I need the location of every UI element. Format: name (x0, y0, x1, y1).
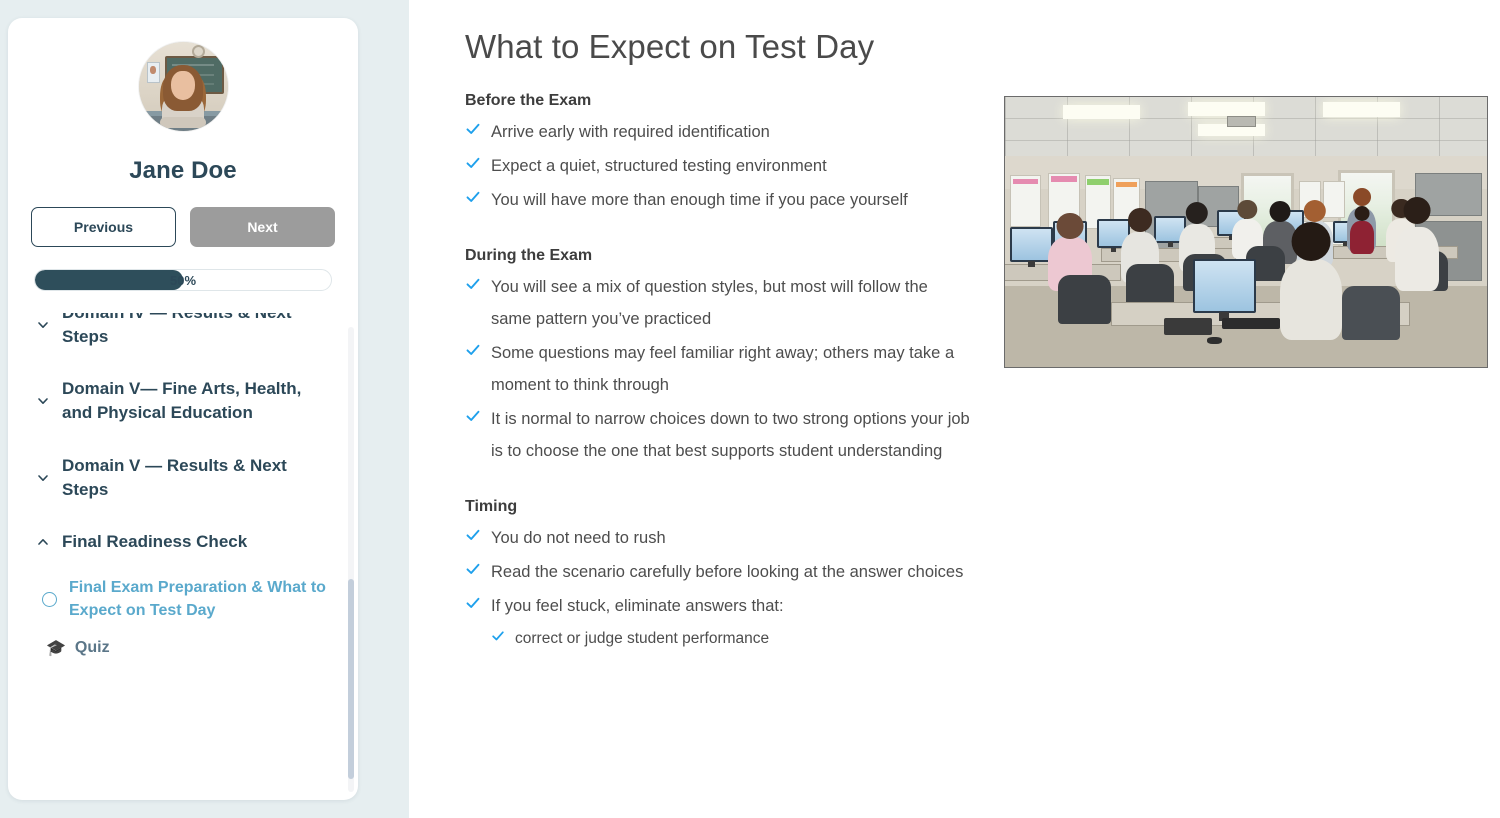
bullet-list: You will see a mix of question styles, b… (465, 271, 970, 468)
sidebar-item-final-readiness-check[interactable]: Final Readiness Check (34, 516, 338, 568)
sidebar-sublist: Final Exam Preparation & What to Expect … (34, 568, 338, 670)
sidebar-item-domain-v-fine-arts[interactable]: Domain V— Fine Arts, Health, and Physica… (34, 363, 338, 439)
nav-buttons: Previous Next (8, 207, 358, 247)
check-icon (465, 121, 481, 137)
sidebar-item-label: Domain V — Results & Next Steps (62, 454, 336, 502)
computer-lab-photo (1004, 96, 1488, 368)
list-item-text: You will see a mix of question styles, b… (491, 271, 970, 335)
sidebar-item-label: Domain V— Fine Arts, Health, and Physica… (62, 377, 336, 425)
section-heading: During the Exam (465, 247, 970, 265)
course-player-page: Jane Doe Previous Next 50% Domain (0, 0, 1500, 818)
content-row: Before the Exam Arrive early with requir… (465, 92, 1452, 684)
avatar-wrapper (8, 42, 358, 131)
list-item: correct or judge student performance (491, 624, 970, 654)
check-icon (465, 527, 481, 543)
section-heading: Before the Exam (465, 92, 970, 110)
check-icon (465, 408, 481, 424)
sidebar-scrollbar-track[interactable] (348, 327, 354, 792)
check-icon (465, 342, 481, 358)
list-item: Read the scenario carefully before looki… (465, 556, 970, 588)
list-item-text: Read the scenario carefully before looki… (491, 556, 963, 588)
sub-bullet-list: correct or judge student performance (491, 624, 970, 654)
user-name: Jane Doe (8, 157, 358, 185)
list-item: You do not need to rush (465, 522, 970, 554)
list-item: You will see a mix of question styles, b… (465, 271, 970, 335)
check-icon (465, 561, 481, 577)
progress-wrapper: 50% (34, 269, 332, 291)
list-item: Some questions may feel familiar right a… (465, 337, 970, 401)
sidebar-item-domain-iv-results[interactable]: Domain IV — Results & Next Steps (34, 313, 338, 363)
section-heading: Timing (465, 498, 970, 516)
main-content: What to Expect on Test Day Before the Ex… (409, 0, 1500, 818)
sidebar-item-label: Domain IV — Results & Next Steps (62, 313, 336, 349)
list-item-text: Some questions may feel familiar right a… (491, 337, 970, 401)
list-item: If you feel stuck, eliminate answers tha… (465, 590, 970, 622)
check-icon (465, 595, 481, 611)
list-item-text: You do not need to rush (491, 522, 666, 554)
list-item-text: If you feel stuck, eliminate answers tha… (491, 590, 784, 622)
check-icon (465, 189, 481, 205)
lesson-image-column (1004, 92, 1488, 684)
sidebar-panel: Jane Doe Previous Next 50% Domain (0, 0, 409, 818)
circle-outline-icon (42, 592, 57, 607)
sidebar-lesson-label: Final Exam Preparation & What to Expect … (69, 576, 336, 622)
check-icon (465, 155, 481, 171)
progress-label: 50% (35, 270, 331, 290)
page-title: What to Expect on Test Day (465, 28, 1452, 66)
course-nav-scroll[interactable]: Domain IV — Results & Next Steps Domain … (8, 313, 358, 800)
quiz-label: Quiz (75, 639, 110, 657)
chevron-down-icon (36, 394, 50, 408)
list-item-text: You will have more than enough time if y… (491, 184, 908, 216)
bullet-list: You do not need to rush Read the scenari… (465, 522, 970, 623)
sidebar-item-quiz[interactable]: 🎓 Quiz (42, 628, 336, 668)
sidebar-lesson-final-exam-preparation[interactable]: Final Exam Preparation & What to Expect … (42, 570, 336, 628)
graduation-cap-icon: 🎓 (46, 638, 66, 658)
chevron-down-icon (36, 471, 50, 485)
list-item-text: It is normal to narrow choices down to t… (491, 403, 970, 467)
course-nav-list: Domain IV — Results & Next Steps Domain … (34, 313, 338, 670)
lesson-text-column: Before the Exam Arrive early with requir… (465, 92, 970, 684)
list-item: It is normal to narrow choices down to t… (465, 403, 970, 467)
chevron-down-icon (36, 318, 50, 332)
avatar (139, 42, 228, 131)
chevron-up-icon (36, 535, 50, 549)
sidebar-card: Jane Doe Previous Next 50% Domain (8, 18, 358, 800)
section-before-the-exam: Before the Exam Arrive early with requir… (465, 92, 970, 217)
sidebar-item-domain-v-results[interactable]: Domain V — Results & Next Steps (34, 440, 338, 516)
progress-bar: 50% (34, 269, 332, 291)
list-item: Arrive early with required identificatio… (465, 116, 970, 148)
list-item: You will have more than enough time if y… (465, 184, 970, 216)
section-timing: Timing You do not need to rush Read the … (465, 498, 970, 655)
sidebar-item-label: Final Readiness Check (62, 530, 247, 554)
list-item-text: Expect a quiet, structured testing envir… (491, 150, 827, 182)
previous-button[interactable]: Previous (31, 207, 176, 247)
list-item-text: Arrive early with required identificatio… (491, 116, 770, 148)
list-item: Expect a quiet, structured testing envir… (465, 150, 970, 182)
bullet-list: Arrive early with required identificatio… (465, 116, 970, 217)
check-icon (491, 629, 505, 643)
list-item-text: correct or judge student performance (515, 624, 769, 654)
sidebar-scrollbar-thumb[interactable] (348, 579, 354, 779)
next-button[interactable]: Next (190, 207, 335, 247)
section-during-the-exam: During the Exam You will see a mix of qu… (465, 247, 970, 468)
check-icon (465, 276, 481, 292)
